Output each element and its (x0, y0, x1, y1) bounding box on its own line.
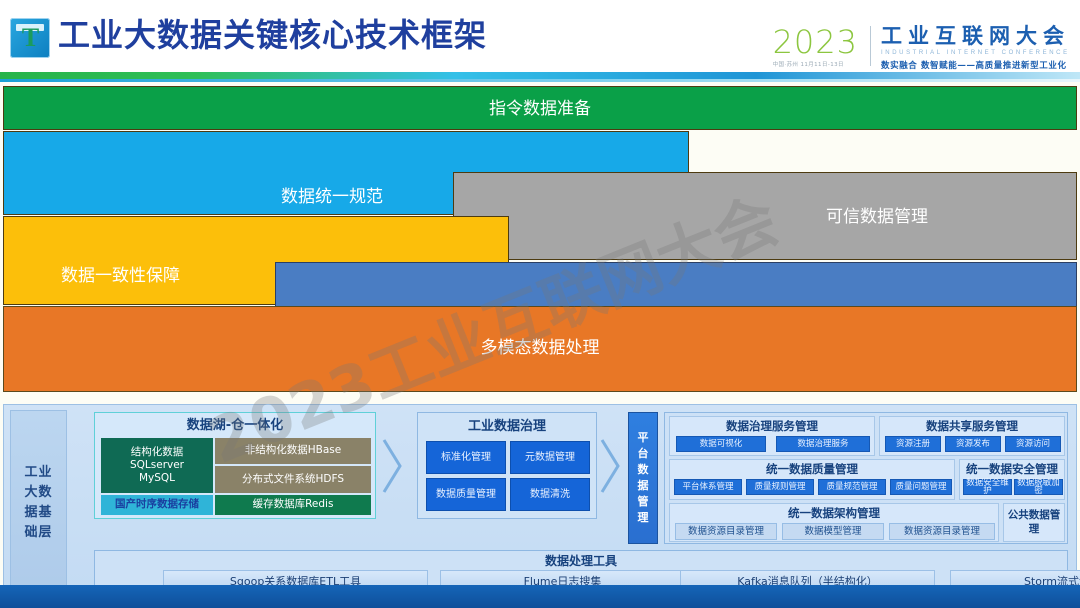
tools-title: 数据处理工具 (95, 551, 1067, 568)
chip-data-security-maintenance[interactable]: 数据安全维护 (963, 479, 1012, 495)
page-title: 工业大数据关键核心技术框架 (58, 14, 487, 57)
base-layer-content: 数据湖-仓一体化 结构化数据 SQLserver MySQL 非结构化数据HBa… (72, 410, 1072, 596)
industrial-data-governance-panel: 工业数据治理 标准化管理 元数据管理 数据质量管理 数据清洗 (417, 412, 597, 519)
band-label: 多模态数据处理 (481, 340, 600, 357)
conference-slogan: 数实融合 数智赋能——高质量推进新型工业化 (881, 61, 1070, 72)
header-underline-secondary (0, 79, 1080, 82)
chip-data-governance-service[interactable]: 数据治理服务 (776, 436, 870, 452)
slide-header: T 工业大数据关键核心技术框架 2023 中国·苏州 11月11日-13日 工业… (0, 0, 1080, 82)
conference-name-en: INDUSTRIAL INTERNET CONFERENCE (881, 50, 1070, 58)
section-title: 数据治理服务管理 (670, 417, 874, 434)
section-public-data-management[interactable]: 公共数据管理 (1003, 503, 1065, 542)
cell-domestic-timeseries-store: 国产时序数据存储 (101, 495, 213, 515)
technology-stack-diagram: 指令数据准备 数据统一规范 可信数据管理 数据一致性保障 时序数据分析 多模态数… (3, 86, 1077, 404)
chip-quality-rule-mgmt[interactable]: 质量规则管理 (746, 479, 814, 495)
conference-year: 2023 (773, 26, 858, 58)
platform-logo-icon: T (10, 18, 50, 58)
conference-year-block: 2023 中国·苏州 11月11日-13日 (773, 26, 870, 70)
chip-platform-system-mgmt[interactable]: 平台体系管理 (674, 479, 742, 495)
section-unified-data-security: 统一数据安全管理 数据安全维护 数据脱敏加密 (959, 459, 1065, 500)
conference-name-cn: 工业互联网大会 (881, 26, 1070, 47)
conference-divider (870, 26, 871, 66)
cell-cache-db-redis: 缓存数据库Redis (215, 495, 371, 515)
data-lake-grid: 结构化数据 SQLserver MySQL 非结构化数据HBase 分布式文件系… (101, 438, 371, 515)
cell-distributed-fs-hdfs: 分布式文件系统HDFS (215, 466, 371, 493)
band-label: 数据一致性保障 (61, 268, 180, 285)
conference-date: 中国·苏州 11月11日-13日 (773, 62, 858, 70)
base-layer-side-text: 工业大数据基础层 (21, 463, 57, 544)
data-lake-title: 数据湖-仓一体化 (95, 413, 375, 434)
section-title: 数据共享服务管理 (880, 417, 1064, 434)
cell-unstructured-hbase: 非结构化数据HBase (215, 438, 371, 464)
bottom-blue-strip (0, 585, 1080, 608)
governance-item-standardization[interactable]: 标准化管理 (426, 441, 506, 474)
chip-resource-publish[interactable]: 资源发布 (945, 436, 1001, 452)
industrial-bigdata-base-layer: 工业大数据基础层 数据湖-仓一体化 结构化数据 SQLserver MySQL … (3, 404, 1077, 604)
band-label: 数据统一规范 (281, 189, 383, 206)
platform-data-management-panel: 数据治理服务管理 数据可视化 数据治理服务 数据共享服务管理 资源注册 资源发布… (664, 412, 1068, 544)
data-lake-warehouse-panel: 数据湖-仓一体化 结构化数据 SQLserver MySQL 非结构化数据HBa… (94, 412, 376, 519)
chip-quality-issue-mgmt[interactable]: 质量问题管理 (890, 479, 952, 495)
structured-line-1: 结构化数据 (130, 446, 184, 459)
public-data-management-label: 公共数据管理 (1007, 509, 1061, 535)
chip-data-masking-encryption[interactable]: 数据脱敏加密 (1014, 479, 1063, 495)
structured-line-3: MySQL (130, 472, 184, 485)
band-trusted-data-management: 可信数据管理 (453, 172, 1077, 260)
section-data-sharing-service: 数据共享服务管理 资源注册 资源发布 资源访问 (879, 416, 1065, 456)
chip-data-visualization[interactable]: 数据可视化 (676, 436, 766, 452)
section-title: 统一数据质量管理 (670, 460, 954, 477)
section-unified-data-architecture: 统一数据架构管理 数据资源目录管理 数据模型管理 数据资源目录管理 (669, 503, 999, 542)
platform-data-management-side-label: 平台数据管理 (628, 412, 658, 544)
governance-item-data-quality[interactable]: 数据质量管理 (426, 478, 506, 511)
band-label: 指令数据准备 (489, 101, 591, 118)
chip-quality-standard-mgmt[interactable]: 质量规范管理 (818, 479, 886, 495)
band-label: 可信数据管理 (826, 209, 928, 226)
chip-data-resource-directory-mgmt[interactable]: 数据资源目录管理 (889, 523, 995, 540)
governance-item-data-cleaning[interactable]: 数据清洗 (510, 478, 590, 511)
flow-arrow-icon (382, 436, 404, 496)
section-unified-data-quality: 统一数据质量管理 平台体系管理 质量规则管理 质量规范管理 质量问题管理 (669, 459, 955, 500)
governance-grid: 标准化管理 元数据管理 数据质量管理 数据清洗 (426, 441, 590, 513)
section-title: 统一数据安全管理 (960, 460, 1064, 477)
conference-name-block: 工业互联网大会 INDUSTRIAL INTERNET CONFERENCE 数… (881, 26, 1070, 72)
base-layer-side-label: 工业大数据基础层 (10, 410, 67, 596)
chip-resource-access[interactable]: 资源访问 (1005, 436, 1061, 452)
section-data-governance-service: 数据治理服务管理 数据可视化 数据治理服务 (669, 416, 875, 456)
governance-title: 工业数据治理 (418, 413, 596, 435)
section-title: 统一数据架构管理 (670, 504, 998, 521)
structured-line-2: SQLserver (130, 459, 184, 472)
chip-data-model-mgmt[interactable]: 数据模型管理 (782, 523, 884, 540)
chip-data-resource-catalog-mgmt[interactable]: 数据资源目录管理 (675, 523, 777, 540)
governance-item-metadata[interactable]: 元数据管理 (510, 441, 590, 474)
cell-structured-data: 结构化数据 SQLserver MySQL (101, 438, 213, 493)
band-instruction-data-prep: 指令数据准备 (3, 86, 1077, 130)
slide-canvas: T 工业大数据关键核心技术框架 2023 中国·苏州 11月11日-13日 工业… (0, 0, 1080, 608)
logo-letter-t: T (10, 18, 50, 58)
conference-logo: 2023 中国·苏州 11月11日-13日 工业互联网大会 INDUSTRIAL… (773, 26, 1070, 74)
platform-side-text: 平台数据管理 (636, 430, 650, 526)
chip-resource-register[interactable]: 资源注册 (885, 436, 941, 452)
band-multimodal-data-processing: 多模态数据处理 (3, 306, 1077, 392)
flow-arrow-icon (600, 436, 622, 496)
